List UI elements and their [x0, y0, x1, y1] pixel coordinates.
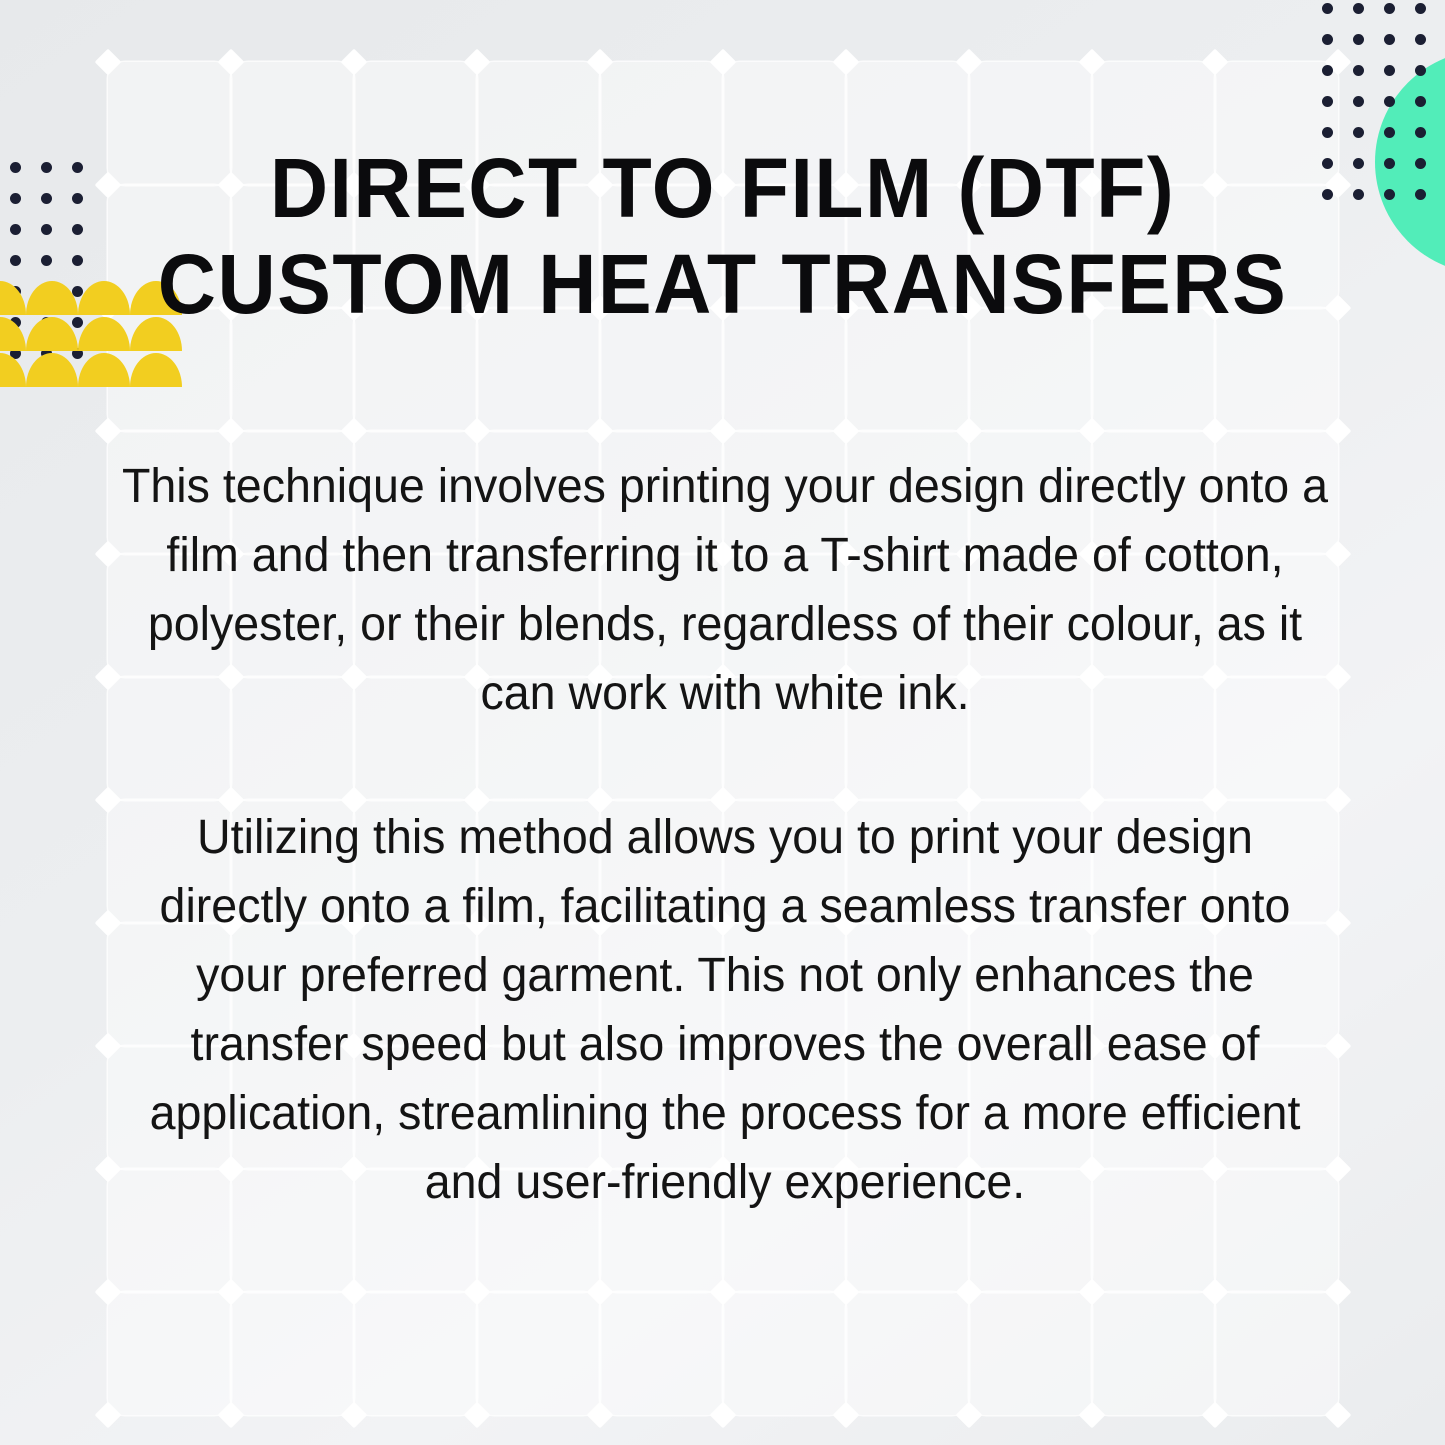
poster-canvas: DIRECT TO FILM (DTF) CUSTOM HEAT TRANSFE…: [0, 0, 1445, 1445]
poster-content: DIRECT TO FILM (DTF) CUSTOM HEAT TRANSFE…: [0, 0, 1445, 1445]
paragraph-2: Utilizing this method allows you to prin…: [119, 803, 1332, 1217]
body-text-block: This technique involves printing your de…: [100, 452, 1350, 1217]
page-title: DIRECT TO FILM (DTF) CUSTOM HEAT TRANSFE…: [144, 140, 1301, 332]
paragraph-1: This technique involves printing your de…: [119, 452, 1332, 728]
